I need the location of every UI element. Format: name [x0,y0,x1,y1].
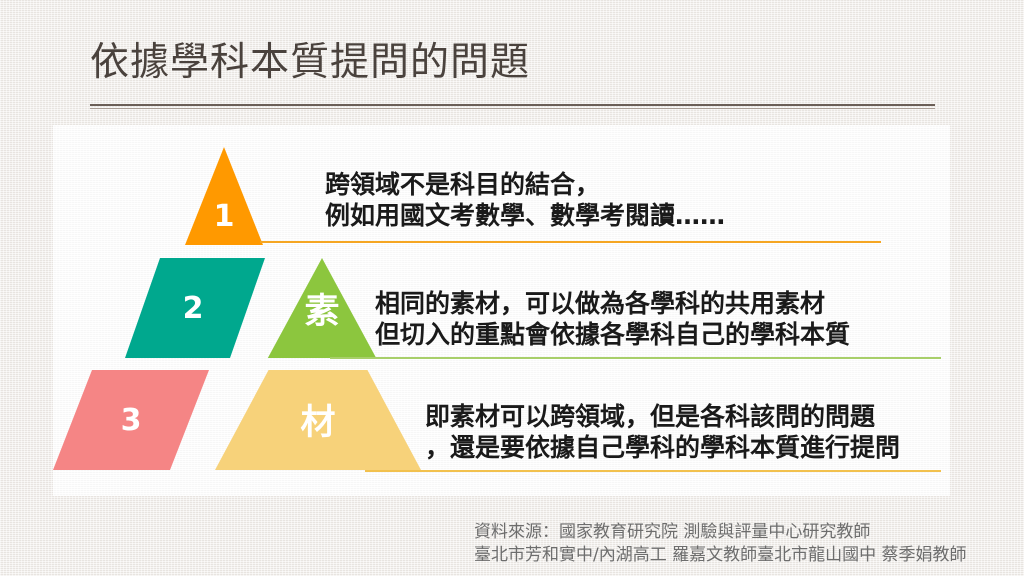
page-title: 依據學科本質提問的問題 [90,38,935,88]
bullet-row-3-underline [365,470,941,472]
slide-canvas: 依據學科本質提問的問題 1 2 3 素 材 跨領域不是科目的結合， 例如用國文考… [0,0,1024,576]
title-block: 依據學科本質提問的問題 [90,38,935,88]
pyramid-step-3-number: 3 [101,406,161,436]
title-divider [90,104,935,109]
content-card: 1 2 3 素 材 跨領域不是科目的結合， 例如用國文考數學、數學考閱讀…… 相… [53,125,950,496]
source-note: 資料來源：國家教育研究院 測驗與評量中心研究教師 臺北市芳和實中/內湖高工 羅嘉… [474,521,974,567]
source-note-line-2: 臺北市芳和實中/內湖高工 羅嘉文教師臺北市龍山國中 蔡季娟教師 [474,544,974,567]
source-note-line-1: 資料來源：國家教育研究院 測驗與評量中心研究教師 [474,521,974,544]
bullet-row-3-line-1: 即素材可以跨領域，但是各科該問的問題 [425,401,900,432]
bullet-row-3-line-2: ，還是要依據自己學科的學科本質進行提問 [425,432,900,463]
bullet-row-2-line-2: 但切入的重點會依據各學科自己的學科本質 [375,319,850,350]
bullet-row-1-underline [260,241,881,243]
bullet-row-1-line-1: 跨領域不是科目的結合， [325,169,725,200]
bullet-row-2: 相同的素材，可以做為各學科的共用素材 但切入的重點會依據各學科自己的學科本質 [375,288,850,350]
bullet-row-3: 即素材可以跨領域，但是各科該問的問題 ，還是要依據自己學科的學科本質進行提問 [425,401,900,463]
bullet-row-1: 跨領域不是科目的結合， 例如用國文考數學、數學考閱讀…… [325,169,725,231]
bullet-row-1-line-2: 例如用國文考數學、數學考閱讀…… [325,200,725,231]
bullet-row-2-line-1: 相同的素材，可以做為各學科的共用素材 [375,288,850,319]
bullet-row-2-underline [330,357,941,359]
pyramid-body-cai-label: 材 [277,406,359,441]
pyramid-step-1-number: 1 [185,202,263,232]
pyramid-body-su-label: 素 [281,295,363,330]
pyramid-step-2-number: 2 [163,294,223,324]
